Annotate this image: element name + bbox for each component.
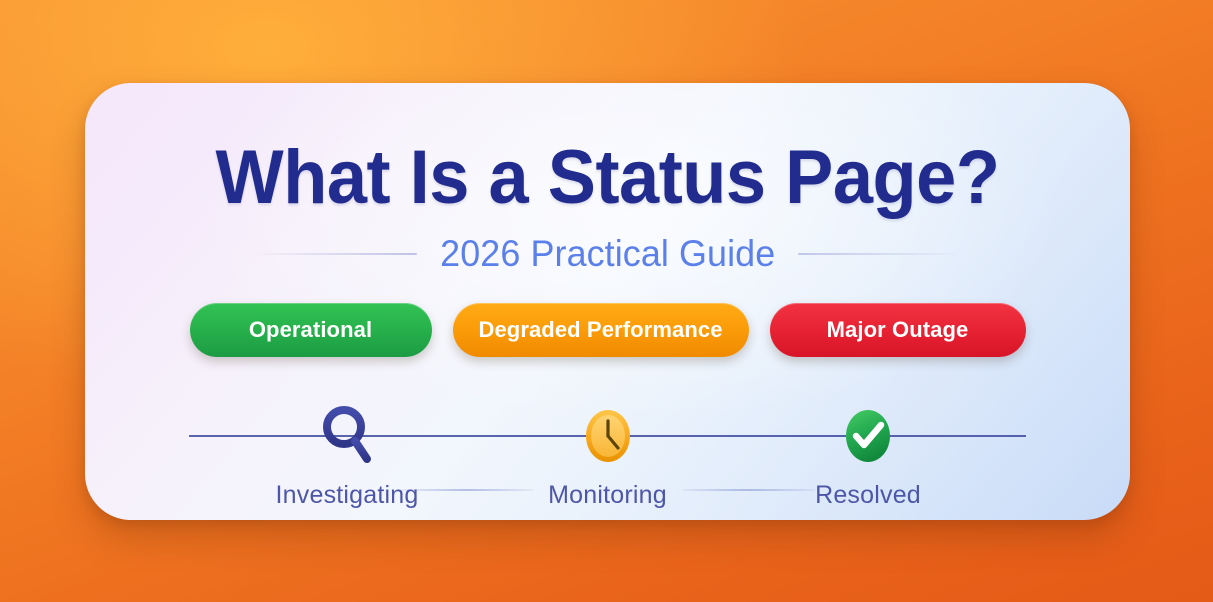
subtitle-rule-right: [798, 253, 956, 255]
lower-rule-monitoring-resolved: [683, 489, 815, 491]
timeline-label-investigating: Investigating: [266, 481, 429, 510]
timeline-label-monitoring: Monitoring: [538, 481, 677, 510]
subtitle-rule-left: [259, 253, 417, 255]
timeline-step-investigating[interactable]: Investigating: [247, 388, 447, 510]
magnifier-icon: [309, 402, 385, 470]
status-badge-major-outage[interactable]: Major Outage: [770, 303, 1026, 357]
status-page-hero-card: What Is a Status Page? 2026 Practical Gu…: [85, 83, 1130, 520]
status-badge-group: Operational Degraded Performance Major O…: [85, 303, 1130, 357]
timeline-step-monitoring[interactable]: Monitoring: [508, 388, 708, 510]
clock-icon: [570, 402, 646, 470]
timeline-nodes: Investigating: [189, 388, 1026, 510]
timeline-label-resolved: Resolved: [805, 481, 931, 510]
status-badge-operational[interactable]: Operational: [190, 303, 432, 357]
timeline-icon-wrap-investigating: [309, 388, 385, 484]
timeline-icon-wrap-resolved: [830, 388, 906, 484]
subtitle-row: 2026 Practical Guide: [85, 233, 1130, 275]
page-subtitle: 2026 Practical Guide: [440, 233, 775, 275]
incident-timeline: Investigating: [189, 388, 1026, 498]
timeline-icon-wrap-monitoring: [570, 388, 646, 484]
check-circle-icon: [830, 402, 906, 470]
page-title: What Is a Status Page?: [111, 135, 1104, 221]
timeline-step-resolved[interactable]: Resolved: [768, 388, 968, 510]
status-badge-degraded-performance[interactable]: Degraded Performance: [453, 303, 749, 357]
